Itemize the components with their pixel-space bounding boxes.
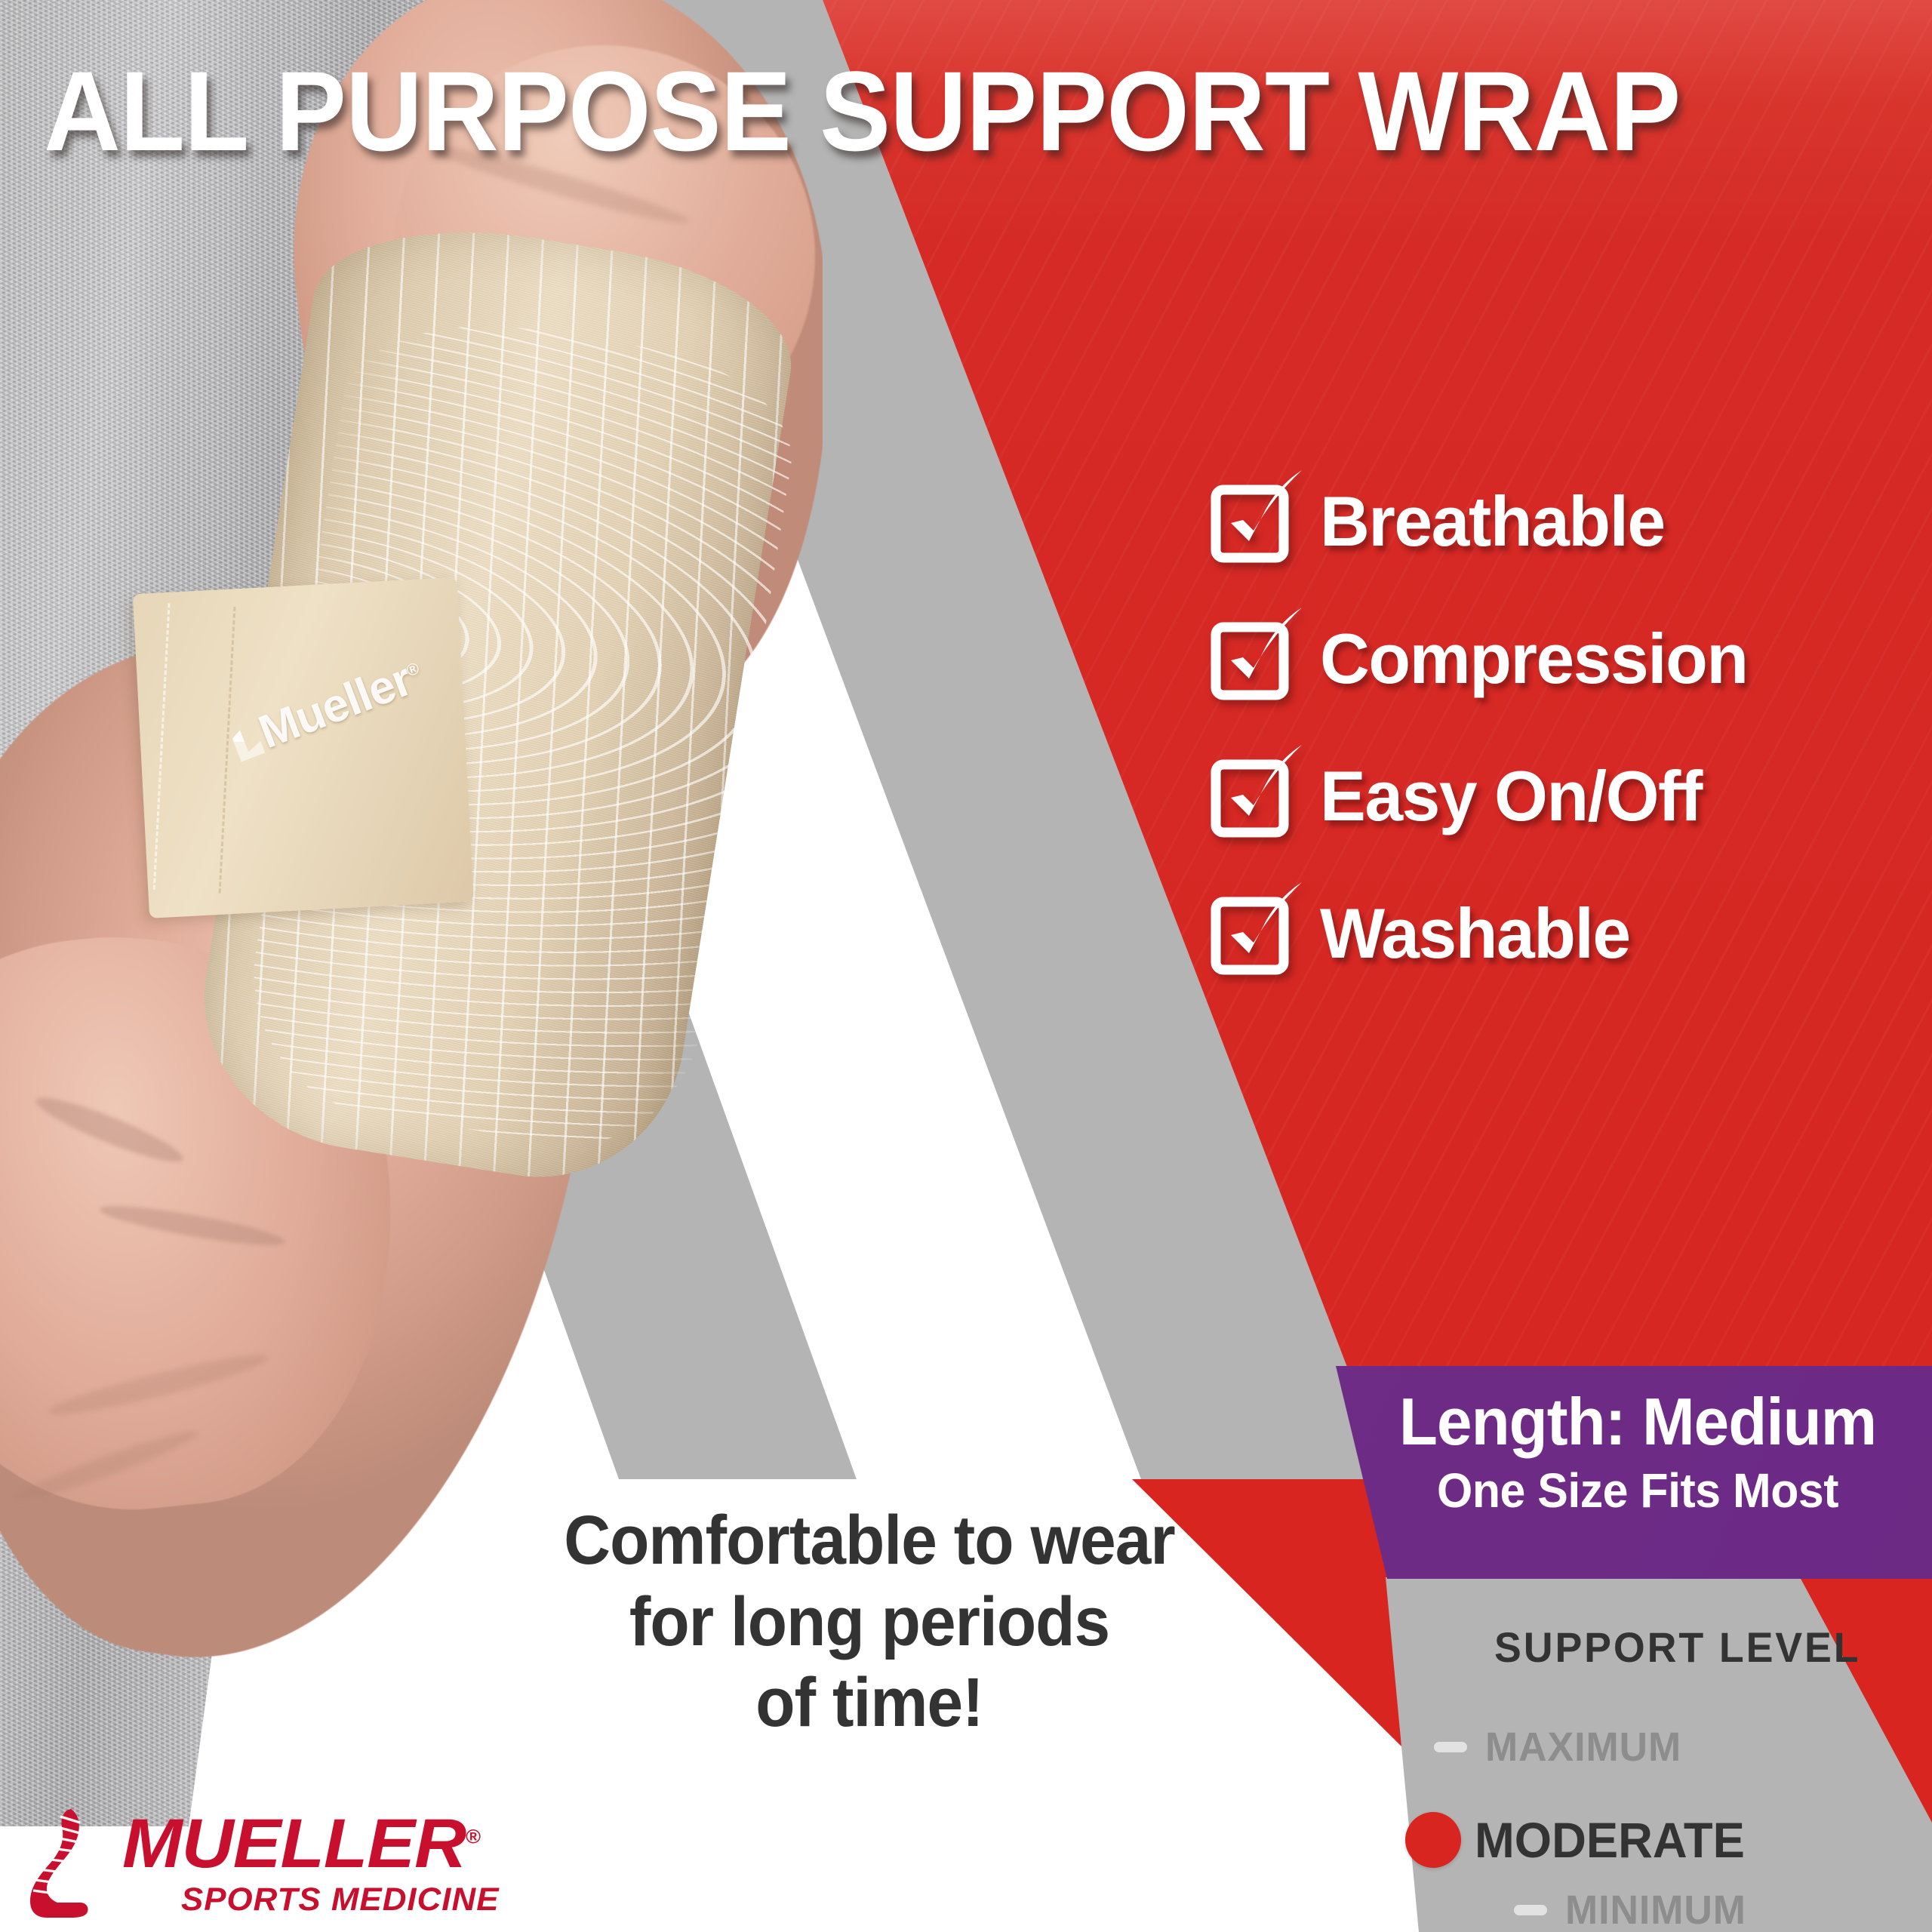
- feature-label: Easy On/Off: [1320, 755, 1702, 837]
- tagline-line-1: Comfortable to wear: [491, 1500, 1248, 1582]
- page-title: ALL PURPOSE SUPPORT WRAP: [44, 54, 1789, 168]
- feature-label: Washable: [1320, 893, 1630, 974]
- support-level-moderate: MODERATE: [1405, 1811, 1756, 1869]
- feature-item-compression: Compression: [1211, 590, 1921, 728]
- checkbox-checked-icon: [1211, 485, 1284, 558]
- level-label: MAXIMUM: [1485, 1724, 1681, 1770]
- tagline-line-3: of time!: [491, 1663, 1248, 1744]
- length-value: Length: Medium: [1373, 1387, 1903, 1457]
- support-level-title: SUPPORT LEVEL: [1494, 1623, 1861, 1672]
- feature-item-easy-on-off: Easy On/Off: [1211, 728, 1921, 865]
- comfort-tagline: Comfortable to wear for long periods of …: [491, 1500, 1248, 1744]
- checkbox-checked-icon: [1211, 897, 1284, 970]
- level-dash-icon: [1434, 1742, 1467, 1752]
- size-fit-note: One Size Fits Most: [1373, 1463, 1903, 1518]
- tagline-line-2: for long periods: [491, 1582, 1248, 1663]
- level-label: MINIMUM: [1565, 1887, 1746, 1932]
- feature-label: Compression: [1320, 618, 1748, 700]
- checkbox-checked-icon: [1211, 623, 1284, 695]
- support-level-minimum: MINIMUM: [1514, 1887, 1754, 1932]
- brand-tagline: SPORTS MEDICINE: [181, 1881, 499, 1918]
- feature-label: Breathable: [1320, 481, 1665, 562]
- brand-wordmark: MUELLER® SPORTS MEDICINE: [122, 1807, 493, 1918]
- brand-logo: MUELLER® SPORTS MEDICINE: [27, 1802, 555, 1923]
- product-poster: Mueller® ALL PURPOSE SUPPORT WRAP Breath…: [0, 0, 1932, 1932]
- wrap-logo-text: Mueller: [252, 654, 419, 759]
- level-label: MODERATE: [1475, 1811, 1745, 1869]
- checkbox-checked-icon: [1211, 760, 1284, 832]
- wrap-end-tab: Mueller®: [133, 577, 474, 918]
- feature-item-breathable: Breathable: [1211, 453, 1921, 590]
- wrap-mueller-logo: Mueller®: [225, 648, 429, 770]
- brand-name-text: MUELLER: [122, 1805, 466, 1882]
- wrapped-ankle-icon: [27, 1806, 112, 1919]
- brand-name: MUELLER®: [122, 1811, 508, 1877]
- level-selected-dot-icon: [1405, 1812, 1461, 1868]
- tab-stitching: [153, 603, 236, 893]
- feature-list: Breathable Compression Easy On/Off: [1211, 453, 1921, 1002]
- length-panel: Length: Medium One Size Fits Most: [1358, 1387, 1917, 1518]
- level-dash-icon: [1514, 1905, 1547, 1915]
- brand-registered-mark: ®: [466, 1825, 480, 1847]
- feature-item-washable: Washable: [1211, 865, 1921, 1002]
- support-level-maximum: MAXIMUM: [1434, 1724, 1690, 1770]
